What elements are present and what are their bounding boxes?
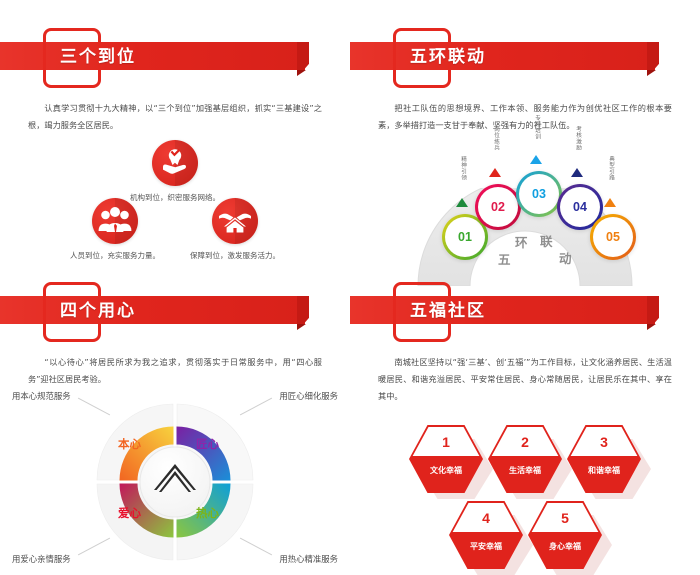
hexagon-label: 生活幸福 (488, 465, 562, 476)
section-paragraph: 南城社区坚持以“强‘三基’、创‘五福’”为工作目标，让文化涵养居民、生活温暖居民… (378, 354, 672, 405)
icon-item-label: 人员到位，充实服务力量。 (55, 250, 175, 261)
section-wufu-shequ: 五福社区 南城社区坚持以“强‘三基’、创‘五福’”为工作目标，让文化涵养居民、生… (350, 278, 700, 548)
section-banner: 五福社区 (350, 278, 700, 340)
four-heart-wheel: 用本心规范服务 用匠心细化服务 用爱心亲情服务 用热心精准服务 (0, 392, 350, 567)
people-group-icon (92, 198, 138, 244)
wheel-label-jiangxin: 用匠心细化服务 (279, 390, 338, 402)
ring-node-number: 02 (475, 184, 521, 230)
banner-ribbon-tail (647, 296, 659, 324)
section-paragraph: “以心待心”将居民所求为我之追求，贯彻落实于日常服务中，用“四心服务”迎社区居民… (28, 354, 322, 388)
wheel-word-rexin: 热心 (196, 505, 219, 521)
section-wuhuan-liandong: 五环联动 把社工队伍的思想境界、工作本领、服务能力作为创优社区工作的根本要素，多… (350, 24, 700, 274)
section-title: 三个到位 (60, 43, 136, 71)
banner-ribbon-tail (297, 296, 309, 324)
icon-item-jigou[interactable]: 机构到位，织密服务网络。 (115, 140, 235, 203)
ring-node-arrow (489, 168, 501, 177)
ring-node-label: 专题培训 (533, 115, 541, 140)
wheel-label-aixin: 用爱心亲情服务 (12, 553, 71, 565)
ring-node-arrow (456, 198, 468, 207)
section-sange-daowei: 三个到位 认真学习贯彻十九大精神，以“三个到位”加强基层组织，抓实“三基建设”之… (0, 24, 350, 274)
hexagon-item-5[interactable]: 5 身心幸福 (528, 501, 602, 569)
hexagon-number: 1 (409, 434, 483, 450)
hexagon-label: 和谐幸福 (567, 465, 641, 476)
wheel-word-jiangxin: 匠心 (196, 436, 219, 452)
hexagon-label: 身心幸福 (528, 541, 602, 552)
section-banner: 五环联动 (350, 24, 700, 86)
section-sige-yongxin: 四个用心 “以心待心”将居民所求为我之追求，贯彻落实于日常服务中，用“四心服务”… (0, 278, 350, 548)
ring-node-arrow (571, 168, 583, 177)
wheel-word-aixin: 爱心 (118, 505, 141, 521)
hexagon-number: 5 (528, 510, 602, 526)
wheel-graphic (95, 402, 255, 562)
section-banner: 三个到位 (0, 24, 350, 86)
banner-fold-notch (297, 324, 306, 330)
arch-char-2: 联 (540, 231, 553, 250)
hexagon-item-1[interactable]: 1 文化幸福 (409, 425, 483, 493)
wheel-label-benxin: 用本心规范服务 (12, 390, 71, 402)
banner-ribbon-tail (297, 42, 309, 70)
hexagon-item-2[interactable]: 2 生活幸福 (488, 425, 562, 493)
banner-ribbon-tail (647, 42, 659, 70)
section-title: 五环联动 (410, 43, 486, 71)
ring-node-label: 考核激励 (574, 126, 582, 151)
ring-node-02[interactable]: 02 岗位练兵 (475, 184, 515, 224)
hexagon-item-3[interactable]: 3 和谐幸福 (567, 425, 641, 493)
section-paragraph: 把社工队伍的思想境界、工作本领、服务能力作为创优社区工作的根本要素，多举措打造一… (378, 100, 672, 134)
banner-fold-notch (647, 324, 656, 330)
arch-char-3: 动 (559, 248, 572, 267)
icon-item-label: 保障到位，激发服务活力。 (175, 250, 295, 261)
section-banner: 四个用心 (0, 278, 350, 340)
five-hexagon-group: 1 文化幸福 2 生活幸福 3 和谐幸福 4 (350, 413, 700, 573)
ring-node-number: 05 (590, 214, 636, 260)
icon-item-baozhang[interactable]: 保障到位，激发服务活力。 (175, 198, 295, 261)
arch-char-1: 环 (515, 232, 528, 251)
hexagon-label: 文化幸福 (409, 465, 483, 476)
section-paragraph: 认真学习贯彻十九大精神，以“三个到位”加强基层组织，抓实“三基建设”之根，竭力服… (28, 100, 322, 134)
wheel-word-benxin: 本心 (118, 436, 141, 452)
ring-node-arrow (604, 198, 616, 207)
infographic-page: 三个到位 认真学习贯彻十九大精神，以“三个到位”加强基层组织，抓实“三基建设”之… (0, 0, 700, 571)
ring-node-03[interactable]: 03 专题培训 (516, 171, 556, 211)
wheel-label-rexin: 用热心精准服务 (279, 553, 338, 565)
hexagon-number: 4 (449, 510, 523, 526)
hands-shelter-house-icon (212, 198, 258, 244)
hexagon-number: 3 (567, 434, 641, 450)
icon-item-renyuan[interactable]: 人员到位，充实服务力量。 (55, 198, 175, 261)
five-ring-diagram: 五 环 联 动 01 精神引领 02 岗位练兵 03 专题培训 (350, 136, 700, 286)
section-title: 五福社区 (410, 297, 486, 325)
banner-fold-notch (297, 70, 306, 76)
ring-node-label: 岗位练兵 (492, 126, 500, 151)
ring-node-label: 典型引路 (607, 156, 615, 181)
ring-node-arrow (530, 155, 542, 164)
award-in-hand-icon (152, 140, 198, 186)
three-icon-group: 机构到位，织密服务网络。 人员到位，充实服务力量。 (0, 140, 350, 265)
ring-node-label: 精神引领 (459, 156, 467, 181)
ring-node-number: 03 (516, 171, 562, 217)
section-title: 四个用心 (60, 297, 136, 325)
hexagon-label: 平安幸福 (449, 541, 523, 552)
banner-fold-notch (647, 70, 656, 76)
ring-node-05[interactable]: 05 典型引路 (590, 214, 630, 254)
hexagon-number: 2 (488, 434, 562, 450)
hexagon-item-4[interactable]: 4 平安幸福 (449, 501, 523, 569)
arch-char-0: 五 (498, 249, 511, 268)
